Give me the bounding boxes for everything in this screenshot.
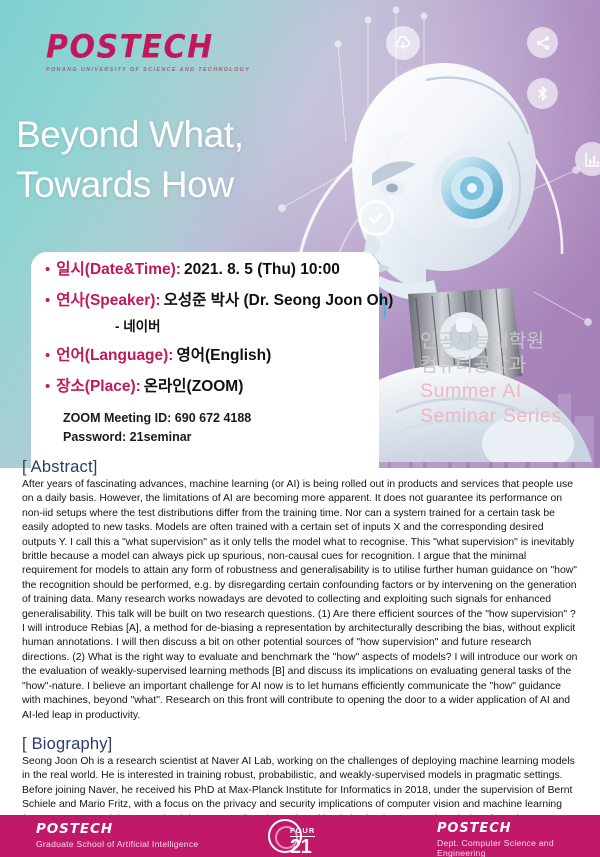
zoom-password: Password: 21seminar <box>63 428 379 447</box>
abstract-heading: [ Abstract] <box>22 458 578 477</box>
seminar-poster: POSTECH POHANG UNIVERSITY OF SCIENCE AND… <box>0 0 600 857</box>
footer-right-subtitle: Dept. Computer Science and Engineering <box>437 838 600 857</box>
bk21-text: FOUR 21 <box>290 820 315 857</box>
postech-wordmark: POSTECH <box>46 32 246 64</box>
footer-left-subtitle: Graduate School of Artificial Intelligen… <box>36 839 198 849</box>
bullet-icon: • <box>45 348 50 363</box>
footer-left-wordmark: POSTECH <box>36 822 198 837</box>
event-info-card: • 일시(Date&Time): 2021. 8. 5 (Thu) 10:00 … <box>31 252 379 468</box>
footer-logo-cse: POSTECH Dept. Computer Science and Engin… <box>437 822 600 857</box>
info-value-place: 온라인(ZOOM) <box>144 379 244 395</box>
abstract-text: After years of fascinating advances, mac… <box>22 478 578 723</box>
info-value-datetime: 2021. 8. 5 (Thu) 10:00 <box>184 262 340 278</box>
series-en-line-2: Seminar Series <box>420 404 562 429</box>
biography-heading: [ Biography] <box>22 735 578 754</box>
zoom-meeting-id: ZOOM Meeting ID: 690 672 4188 <box>63 409 379 428</box>
bullet-icon: • <box>45 262 50 277</box>
footer-right-wordmark: POSTECH <box>437 822 600 836</box>
info-value-language: 영어(English) <box>176 348 271 364</box>
title-line-1: Beyond What, <box>16 110 244 160</box>
bk21-four-label: FOUR <box>290 826 315 837</box>
share-icon <box>527 27 558 58</box>
info-row-language: • 언어(Language): 영어(English) <box>45 348 379 364</box>
info-row-place: • 장소(Place): 온라인(ZOOM) <box>45 379 379 395</box>
check-circle-icon <box>358 200 394 236</box>
title-line-2: Towards How <box>16 160 244 210</box>
info-row-datetime: • 일시(Date&Time): 2021. 8. 5 (Thu) 10:00 <box>45 262 379 278</box>
cloud-download-icon <box>386 26 420 60</box>
seminar-series-label: 인공지능대학원 컴퓨터공학과 Summer AI Seminar Series <box>420 330 562 429</box>
bk21-four-logo: FOUR 21 <box>268 818 342 855</box>
footer-logo-gsai: POSTECH Graduate School of Artificial In… <box>36 822 198 849</box>
event-info-list: • 일시(Date&Time): 2021. 8. 5 (Thu) 10:00 … <box>31 252 379 447</box>
bullet-icon: • <box>45 379 50 394</box>
series-en-line-1: Summer AI <box>420 379 562 404</box>
zoom-credentials: ZOOM Meeting ID: 690 672 4188 Password: … <box>63 409 379 447</box>
postech-logo-header: POSTECH POHANG UNIVERSITY OF SCIENCE AND… <box>46 33 246 73</box>
series-ko-line-2: 컴퓨터공학과 <box>420 354 562 378</box>
info-label-language: 언어(Language): <box>56 348 173 364</box>
bullet-icon: • <box>45 293 50 308</box>
bk21-number: 21 <box>290 838 315 857</box>
info-value-speaker: 오성준 박사 (Dr. Seong Joon Oh) <box>164 293 394 309</box>
info-label-place: 장소(Place): <box>56 379 141 395</box>
info-label-speaker: 연사(Speaker): <box>56 293 160 309</box>
speaker-affiliation: - 네이버 <box>115 315 379 335</box>
poster-footer: POSTECH Graduate School of Artificial In… <box>0 815 600 857</box>
series-ko-line-1: 인공지능대학원 <box>420 330 562 354</box>
page-title: Beyond What, Towards How <box>16 110 244 209</box>
poster-body: [ Abstract] After years of fascinating a… <box>0 458 600 841</box>
info-row-speaker: • 연사(Speaker): 오성준 박사 (Dr. Seong Joon Oh… <box>45 293 379 309</box>
bluetooth-icon <box>527 78 558 109</box>
postech-tagline: POHANG UNIVERSITY OF SCIENCE AND TECHNOL… <box>46 67 246 73</box>
info-label-datetime: 일시(Date&Time): <box>56 262 181 278</box>
section-spacer <box>22 723 578 735</box>
